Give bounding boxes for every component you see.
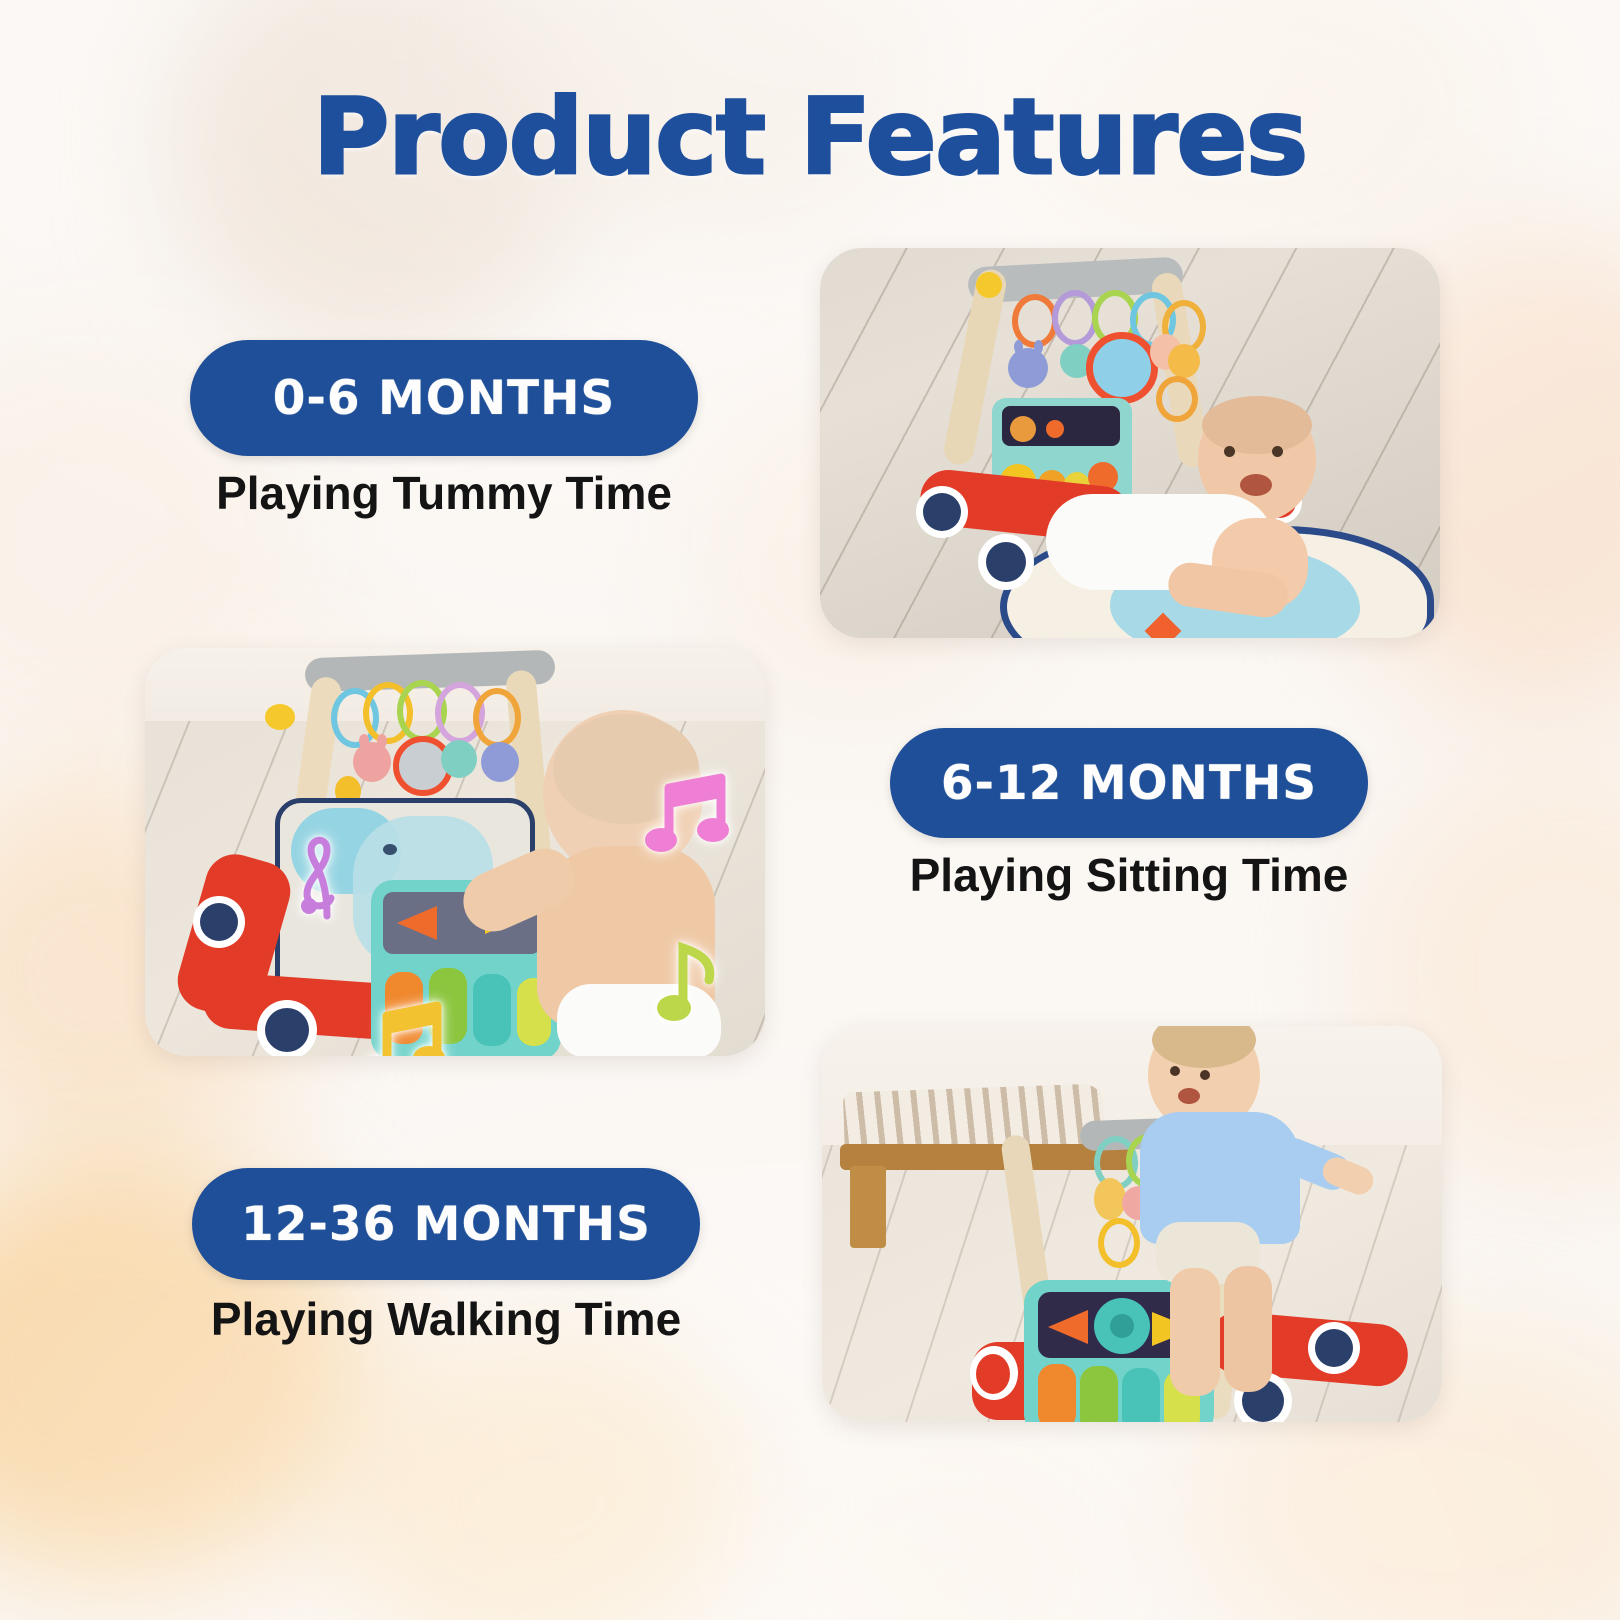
badge-0-6-months: 0-6 MONTHS — [190, 340, 698, 456]
caption-walking-time: Playing Walking Time — [192, 1292, 700, 1346]
photo-walking-time — [822, 1026, 1442, 1422]
treble-clef-note-icon — [293, 830, 357, 926]
caption-tummy-time: Playing Tummy Time — [190, 466, 698, 520]
caption-sitting-time: Playing Sitting Time — [890, 848, 1368, 902]
eighth-note-green-icon — [657, 936, 723, 1028]
badge-6-12-months: 6-12 MONTHS — [890, 728, 1368, 838]
page-title: Product Features — [0, 85, 1620, 189]
photo-sitting-time — [145, 648, 765, 1056]
badge-0-6-months-label: 0-6 MONTHS — [273, 371, 616, 426]
photo-tummy-time — [820, 248, 1440, 638]
beamed-eighth-note-yellow-icon — [363, 1000, 449, 1056]
badge-12-36-months: 12-36 MONTHS — [192, 1168, 700, 1280]
beamed-eighth-note-pink-icon — [643, 772, 735, 860]
badge-6-12-months-label: 6-12 MONTHS — [941, 756, 1317, 811]
infographic-canvas: Product Features — [0, 0, 1620, 1620]
badge-12-36-months-label: 12-36 MONTHS — [241, 1197, 651, 1252]
